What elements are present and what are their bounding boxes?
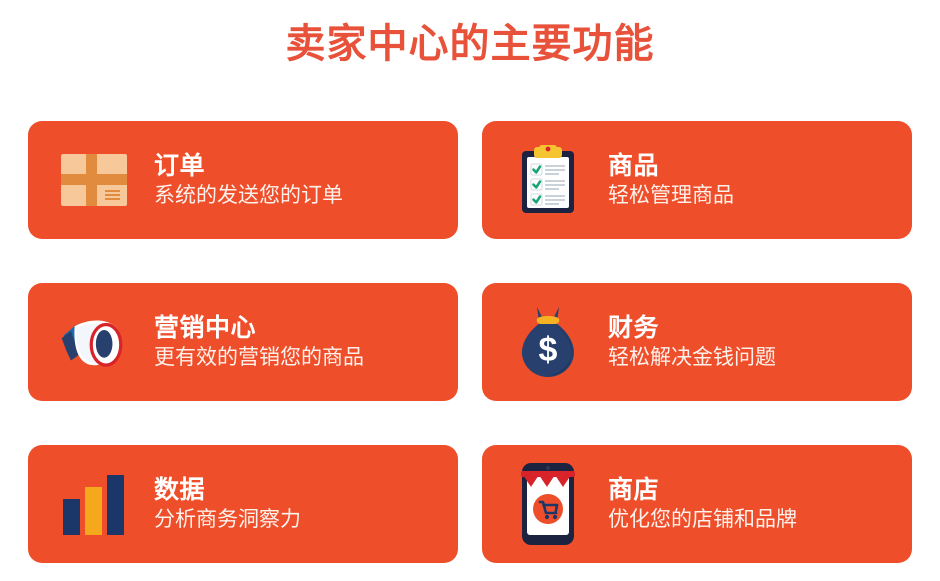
feature-card-subtitle: 系统的发送您的订单 bbox=[154, 182, 343, 210]
feature-card-subtitle: 更有效的营销您的商品 bbox=[154, 344, 364, 372]
feature-card-text: 商店 优化您的店铺和品牌 bbox=[608, 475, 797, 534]
feature-grid-page: 卖家中心的主要功能 订单 系统的发送您的订单 bbox=[0, 0, 940, 581]
feature-card-shop[interactable]: 商店 优化您的店铺和品牌 bbox=[482, 445, 912, 563]
feature-card-text: 财务 轻松解决金钱问题 bbox=[608, 313, 776, 372]
mobile-storefront-icon bbox=[512, 468, 584, 540]
feature-card-products[interactable]: 商品 轻松管理商品 bbox=[482, 121, 912, 239]
feature-card-text: 订单 系统的发送您的订单 bbox=[154, 151, 343, 210]
feature-card-finance[interactable]: $ 财务 轻松解决金钱问题 bbox=[482, 283, 912, 401]
feature-card-subtitle: 分析商务洞察力 bbox=[154, 506, 301, 534]
feature-card-orders[interactable]: 订单 系统的发送您的订单 bbox=[28, 121, 458, 239]
feature-card-text: 数据 分析商务洞察力 bbox=[154, 475, 301, 534]
money-bag-icon: $ bbox=[512, 306, 584, 378]
svg-text:$: $ bbox=[539, 331, 558, 369]
package-box-icon bbox=[58, 144, 130, 216]
feature-card-title: 订单 bbox=[154, 151, 343, 181]
feature-card-analytics[interactable]: 数据 分析商务洞察力 bbox=[28, 445, 458, 563]
megaphone-icon bbox=[58, 306, 130, 378]
bar-chart-icon bbox=[58, 468, 130, 540]
feature-card-text: 商品 轻松管理商品 bbox=[608, 151, 734, 210]
clipboard-checklist-icon bbox=[512, 144, 584, 216]
feature-card-title: 数据 bbox=[154, 475, 301, 505]
feature-card-subtitle: 优化您的店铺和品牌 bbox=[608, 506, 797, 534]
feature-card-grid: 订单 系统的发送您的订单 bbox=[28, 121, 912, 563]
feature-card-title: 商店 bbox=[608, 475, 797, 505]
feature-card-marketing[interactable]: 营销中心 更有效的营销您的商品 bbox=[28, 283, 458, 401]
feature-card-title: 营销中心 bbox=[154, 313, 364, 343]
feature-card-title: 商品 bbox=[608, 151, 734, 181]
feature-card-title: 财务 bbox=[608, 313, 776, 343]
feature-card-subtitle: 轻松解决金钱问题 bbox=[608, 344, 776, 372]
feature-card-subtitle: 轻松管理商品 bbox=[608, 182, 734, 210]
feature-card-text: 营销中心 更有效的营销您的商品 bbox=[154, 313, 364, 372]
page-title: 卖家中心的主要功能 bbox=[0, 18, 940, 70]
